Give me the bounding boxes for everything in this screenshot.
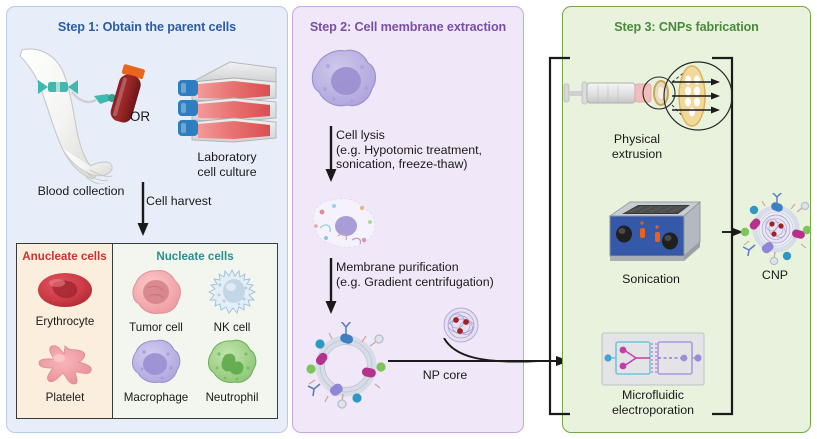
sonicator-illustration (600, 196, 704, 272)
erythrocyte-icon (35, 270, 95, 310)
anucleate-cells-header: Anucleate cells (17, 250, 112, 263)
tumor-cell-icon (128, 268, 184, 316)
lab-culture-label: Laboratory cell culture (172, 150, 282, 179)
nucleate-cells-column: Nucleate cells Tumor cell (113, 244, 277, 418)
membrane-vesicle-icon (300, 322, 392, 410)
sonication-label: Sonication (592, 272, 710, 287)
cnp-fabrication-figure: Step 1: Obtain the parent cells (0, 0, 817, 439)
macrophage-icon (128, 338, 184, 386)
physical-extrusion-label: Physical extrusion (578, 132, 696, 161)
physical-extrusion-illustration (562, 58, 736, 142)
erythrocyte-label: Erythrocyte (17, 315, 113, 328)
neutrophil-label: Neutrophil (191, 391, 273, 404)
neutrophil-icon (204, 338, 260, 386)
or-connector-label: OR (118, 110, 162, 125)
cnp-label: CNP (742, 268, 808, 283)
cell-harvest-arrow-icon (136, 182, 150, 238)
nk-cell-label: NK cell (191, 321, 273, 334)
assembly-arrow-icon (388, 338, 574, 384)
platelet-label: Platelet (17, 391, 113, 404)
cell-item-platelet: Platelet (17, 340, 113, 404)
cnp-product-icon (740, 193, 812, 265)
parent-cell-types-box: Anucleate cells Erythrocyte (16, 243, 278, 419)
nk-cell-icon (204, 268, 260, 316)
step-2-title: Step 2: Cell membrane extraction (293, 20, 523, 34)
cell-culture-flask-illustration (172, 56, 284, 152)
cell-item-erythrocyte: Erythrocyte (17, 270, 113, 328)
platelet-icon (33, 340, 97, 386)
intact-cell-icon (308, 48, 382, 120)
cell-harvest-label: Cell harvest (146, 194, 256, 209)
anucleate-cells-column: Anucleate cells Erythrocyte (17, 244, 113, 418)
nucleate-cells-header: Nucleate cells (113, 250, 277, 263)
membrane-purification-label: Membrane purification (e.g. Gradient cen… (336, 260, 526, 289)
cell-item-nk-cell: NK cell (191, 268, 273, 334)
blood-collection-label: Blood collection (6, 184, 156, 199)
macrophage-label: Macrophage (115, 391, 197, 404)
tumor-cell-label: Tumor cell (115, 321, 197, 334)
cell-lysis-label: Cell lysis (e.g. Hypotomic treatment, so… (336, 128, 526, 172)
microfluidic-label: Microfluidic electroporation (578, 388, 728, 417)
lysed-cell-icon (300, 192, 386, 254)
cell-item-tumor-cell: Tumor cell (115, 268, 197, 334)
cell-item-neutrophil: Neutrophil (191, 338, 273, 404)
microfluidic-chip-illustration (598, 330, 708, 388)
cell-item-macrophage: Macrophage (115, 338, 197, 404)
step-3-title: Step 3: CNPs fabrication (563, 20, 810, 34)
step-1-title: Step 1: Obtain the parent cells (7, 20, 287, 34)
